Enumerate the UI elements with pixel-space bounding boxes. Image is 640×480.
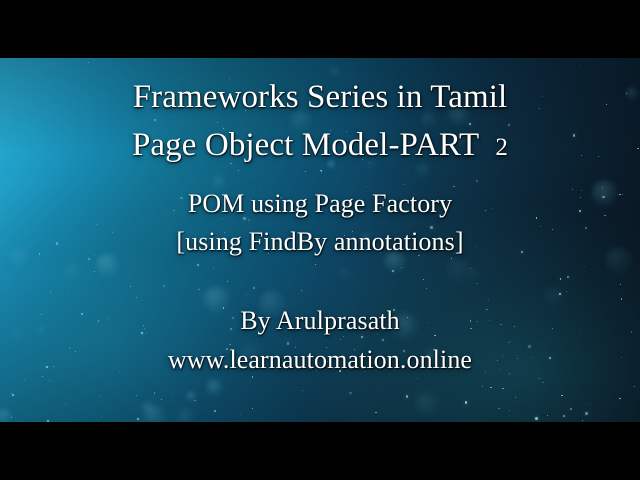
title-line-1: Frameworks Series in Tamil (133, 81, 508, 114)
title-line-2-main: Page Object Model-PART (132, 127, 495, 163)
attribution-website: www.learnautomation.online (168, 347, 472, 373)
letterbox-bar-bottom (0, 422, 640, 480)
title-part-number: 2 (495, 134, 508, 161)
slide-text-block: Frameworks Series in Tamil Page Object M… (0, 58, 640, 422)
letterbox-bar-top (0, 0, 640, 58)
attribution-author: By Arulprasath (240, 308, 400, 334)
title-line-2: Page Object Model-PART 2 (132, 129, 508, 162)
subtitle-line-1: POM using Page Factory (188, 191, 452, 217)
title-slide: Frameworks Series in Tamil Page Object M… (0, 58, 640, 422)
subtitle-line-2: [using FindBy annotations] (176, 229, 463, 255)
video-frame: Frameworks Series in Tamil Page Object M… (0, 0, 640, 480)
